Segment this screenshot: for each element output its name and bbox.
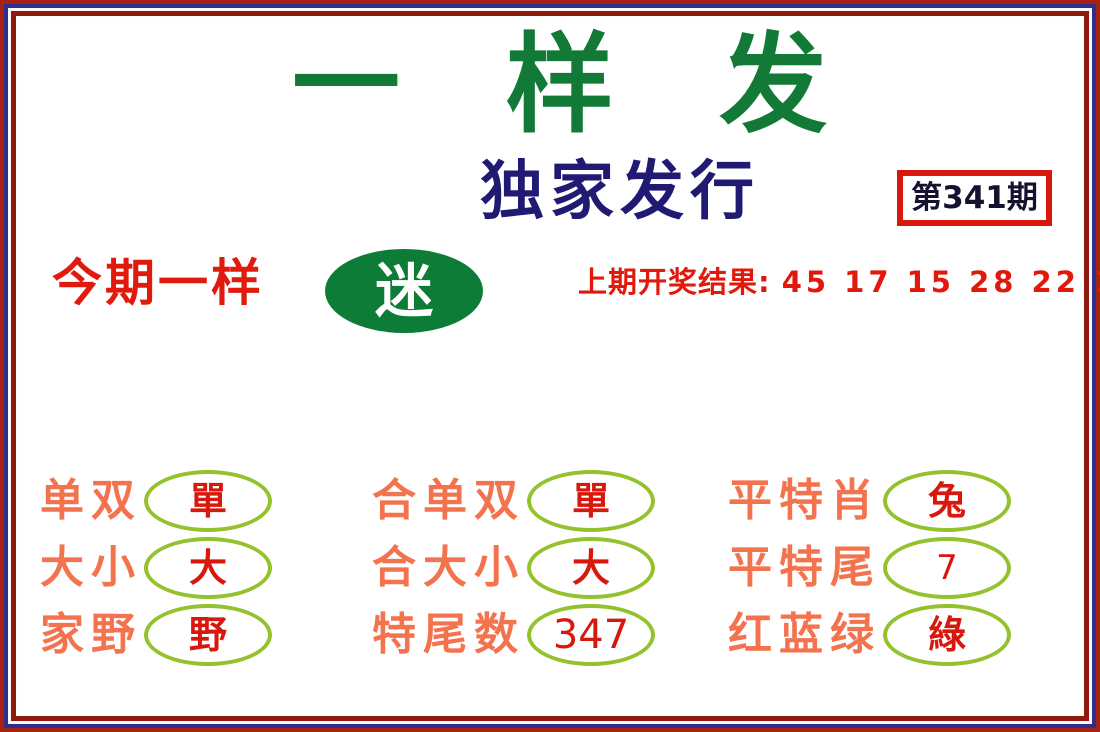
page-title: 一 样 发 [292,28,892,145]
issue-badge: 第341期 [897,170,1052,226]
cell-label: 红蓝绿 [728,613,881,657]
grid-cell: 单双 單 [40,468,360,535]
grid-cell: 特尾数 347 [360,601,710,668]
cell-value-oval: 野 [144,604,272,666]
prediction-grid: 单双 單 合单双 單 平特肖 兔 大小 大 合大小 大 [40,468,1062,668]
last-draw-label: 上期开奖结果: [578,265,771,299]
grid-cell: 家野 野 [40,601,360,668]
issue-number-text: 第341期 [911,183,1038,214]
forecast-value-text: 迷 [375,262,433,320]
cell-label: 家野 [40,613,142,657]
cell-value-text: 野 [189,616,227,654]
cell-value-text: 大 [189,549,227,587]
cell-label: 合大小 [372,546,525,590]
cell-value-text: 單 [189,482,227,520]
forecast-value-badge: 迷 [325,249,483,333]
cell-label: 平特肖 [728,479,881,523]
cell-value-oval: 兔 [883,470,1011,532]
cell-value-oval: 單 [527,470,655,532]
cell-value-text: 兔 [928,482,966,520]
last-draw-result: 上期开奖结果: 45 17 15 28 22 10+16 [578,268,1100,297]
cell-value-oval: 大 [527,537,655,599]
cell-value-oval: 7 [883,537,1011,599]
grid-cell: 平特肖 兔 [710,468,1062,535]
grid-cell: 大小 大 [40,535,360,602]
grid-cell: 合单双 單 [360,468,710,535]
cell-label: 单双 [40,479,142,523]
cell-value-text: 347 [553,615,629,655]
grid-cell: 平特尾 7 [710,535,1062,602]
cell-value-text: 大 [572,549,610,587]
cell-value-oval: 綠 [883,604,1011,666]
cell-value-oval: 單 [144,470,272,532]
subtitle: 独家发行 [480,160,760,224]
grid-cell: 红蓝绿 綠 [710,601,1062,668]
cell-value-oval: 大 [144,537,272,599]
poster-canvas: 一 样 发 独家发行 第341期 今期一样 迷 上期开奖结果: 45 17 15… [0,0,1100,732]
cell-label: 大小 [40,546,142,590]
grid-cell: 合大小 大 [360,535,710,602]
cell-label: 平特尾 [728,546,881,590]
cell-label: 合单双 [372,479,525,523]
cell-value-text: 單 [572,482,610,520]
cell-value-oval: 347 [527,604,655,666]
forecast-label: 今期一样 [52,258,264,308]
cell-value-text: 7 [936,551,958,585]
cell-label: 特尾数 [372,613,525,657]
last-draw-numbers: 45 17 15 28 22 10+16 [782,265,1100,299]
cell-value-text: 綠 [928,616,966,654]
